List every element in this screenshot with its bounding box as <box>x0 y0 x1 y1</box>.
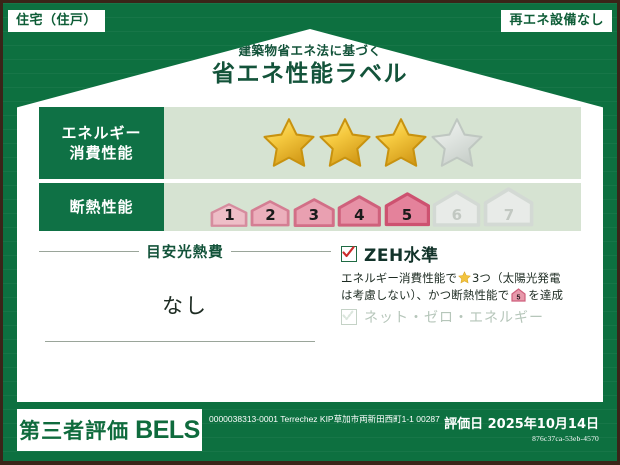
star-rating <box>262 116 484 170</box>
certificate-hash: 876c37ca-53eb-4570 <box>444 434 599 443</box>
zeh-desc-part2: は考慮しない）、かつ断熱性能で <box>341 288 509 302</box>
energy-rating-value <box>164 107 581 179</box>
energy-performance-label: 住宅（住戸） 再エネ設備なし 建築物省エネ法に基づく 省エネ性能ラベル エネルギ… <box>0 0 620 465</box>
label-footer: 第三者評価 BELS 0000038313-0001 Terrechez KIP… <box>17 409 603 451</box>
insulation-grade-1: 1 <box>210 203 248 227</box>
rating-rows: エネルギー 消費性能 断熱性能 1234567 <box>39 107 581 235</box>
zeh-desc-part3: を達成 <box>528 288 563 302</box>
utility-cost-value: なし <box>39 290 331 320</box>
bels-japanese-text: 第三者評価 <box>19 415 129 445</box>
insulation-grade-label: 2 <box>250 208 290 223</box>
zeh-checkbox <box>341 246 357 262</box>
svg-text:5: 5 <box>517 294 521 301</box>
renewable-equipment-tag: 再エネ設備なし <box>501 10 612 32</box>
evaluation-date-label: 評価日 <box>444 417 483 432</box>
insulation-grade-label: 7 <box>483 208 534 223</box>
star-filled-icon <box>374 116 428 170</box>
inline-grade-icon: 5 <box>511 288 526 302</box>
insulation-grade-3: 3 <box>293 198 335 227</box>
certificate-id: 0000038313-0001 Terrechez KIP草加市両新田西町1-1… <box>209 413 440 451</box>
bels-logo-text: BELS <box>135 416 200 445</box>
zeh-title: ZEH水準 <box>364 241 439 266</box>
insulation-grade-label: 4 <box>337 208 382 223</box>
insulation-grade-label: 5 <box>384 208 431 223</box>
utility-cost-heading: 目安光熱費 <box>39 241 331 262</box>
utility-cost-heading-text: 目安光熱費 <box>146 241 224 262</box>
zeh-description: エネルギー消費性能で3つ（太陽光発電 は考慮しない）、かつ断熱性能で5を達成 <box>341 270 581 303</box>
label-title-block: 建築物省エネ法に基づく 省エネ性能ラベル <box>17 44 603 87</box>
insulation-grade-6: 6 <box>432 190 481 227</box>
insulation-grade-5: 5 <box>384 192 431 226</box>
net-zero-line: ネット・ゼロ・エネルギー <box>341 307 581 327</box>
star-empty-icon <box>430 116 484 170</box>
evaluation-date: 評価日 2025年10月14日 <box>444 413 599 432</box>
bels-badge: 第三者評価 BELS <box>17 409 202 451</box>
insulation-rating-value: 1234567 <box>164 183 581 231</box>
label-house-panel: 建築物省エネ法に基づく 省エネ性能ラベル エネルギー 消費性能 <box>17 29 603 402</box>
zeh-desc-part1: エネルギー消費性能で <box>341 271 457 285</box>
energy-rating-label: エネルギー 消費性能 <box>39 107 164 179</box>
info-section: 目安光熱費 なし ZEH水準 <box>39 241 581 327</box>
energy-rating-row: エネルギー 消費性能 <box>39 107 581 179</box>
heading-rule-right <box>231 251 331 252</box>
utility-cost-block: 目安光熱費 なし <box>39 241 331 327</box>
zeh-block: ZEH水準 エネルギー消費性能で3つ（太陽光発電 は考慮しない）、かつ断熱性能で… <box>331 241 581 327</box>
insulation-grade-label: 6 <box>432 208 481 223</box>
insulation-grade-label: 1 <box>210 208 248 223</box>
building-type-tag: 住宅（住戸） <box>8 10 105 32</box>
insulation-grade-label: 3 <box>293 208 335 223</box>
star-filled-icon <box>318 116 372 170</box>
zeh-title-line: ZEH水準 <box>341 241 581 266</box>
heading-rule-left <box>39 251 139 252</box>
insulation-grade-7: 7 <box>483 187 534 227</box>
evaluation-date-value: 2025年10月14日 <box>488 417 599 432</box>
insulation-grade-4: 4 <box>337 195 382 227</box>
label-subtitle: 建築物省エネ法に基づく <box>17 44 603 58</box>
inline-star-icon <box>458 271 471 284</box>
zeh-desc-stars: 3つ（太陽光発電 <box>472 271 561 285</box>
footer-info: 0000038313-0001 Terrechez KIP草加市両新田西町1-1… <box>202 409 603 451</box>
evaluation-date-block: 評価日 2025年10月14日 876c37ca-53eb-4570 <box>444 413 599 451</box>
insulation-rating-label: 断熱性能 <box>39 183 164 231</box>
utility-cost-bottom-rule <box>45 341 315 342</box>
page-title: 省エネ性能ラベル <box>17 61 603 87</box>
insulation-grade-scale: 1234567 <box>210 187 534 227</box>
net-zero-checkbox <box>341 309 357 325</box>
star-filled-icon <box>262 116 316 170</box>
insulation-grade-2: 2 <box>250 200 290 227</box>
net-zero-label: ネット・ゼロ・エネルギー <box>364 307 544 327</box>
insulation-rating-row: 断熱性能 1234567 <box>39 183 581 231</box>
